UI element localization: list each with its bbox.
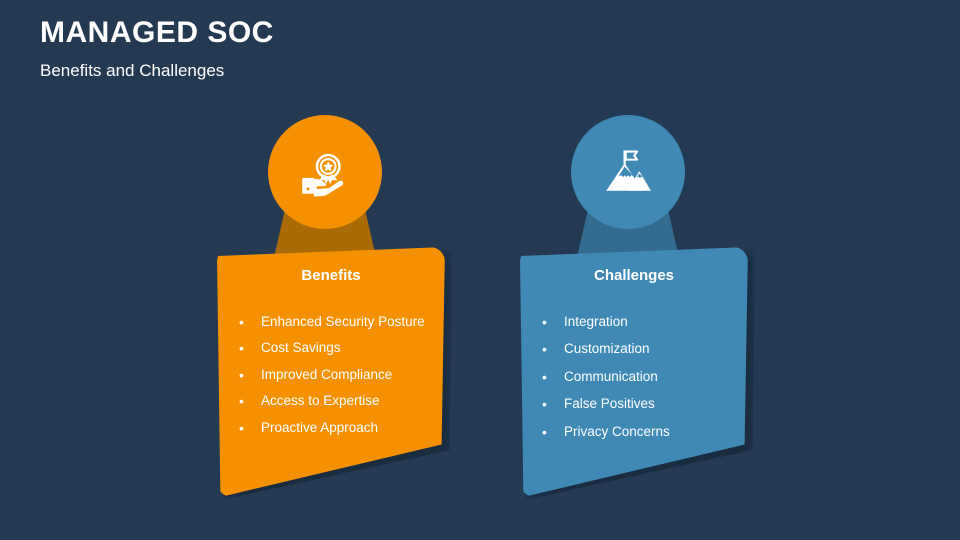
bullet-icon: •: [542, 368, 564, 386]
list-item-label: Communication: [564, 368, 734, 386]
list-item: • Privacy Concerns: [542, 423, 734, 441]
slide-canvas: MANAGED SOC Benefits and Challenges: [0, 0, 960, 540]
bullet-icon: •: [542, 313, 564, 331]
list-item: • Communication: [542, 368, 734, 386]
list-item-label: Enhanced Security Posture: [261, 313, 431, 331]
list-item-label: Integration: [564, 313, 734, 331]
bullet-icon: •: [542, 423, 564, 441]
list-item: • Access to Expertise: [239, 392, 431, 410]
list-item-label: Cost Savings: [261, 339, 431, 357]
icon-circle-benefits: [268, 115, 382, 229]
bullet-icon: •: [239, 392, 261, 410]
card-benefits[interactable]: Benefits • Enhanced Security Posture • C…: [217, 247, 445, 497]
bullet-icon: •: [542, 395, 564, 413]
icon-circle-challenges: [571, 115, 685, 229]
bullet-icon: •: [239, 419, 261, 437]
benefits-list: • Enhanced Security Posture • Cost Savin…: [239, 313, 431, 445]
list-item-label: False Positives: [564, 395, 734, 413]
bullet-icon: •: [239, 366, 261, 384]
list-item: • Customization: [542, 340, 734, 358]
bullet-icon: •: [542, 340, 564, 358]
panel-benefits: Benefits • Enhanced Security Posture • C…: [160, 0, 490, 540]
bullet-icon: •: [239, 313, 261, 331]
list-item: • Proactive Approach: [239, 419, 431, 437]
list-item: • False Positives: [542, 395, 734, 413]
list-item: • Cost Savings: [239, 339, 431, 357]
mountain-flag-icon: [598, 142, 658, 202]
list-item-label: Privacy Concerns: [564, 423, 734, 441]
list-item-label: Improved Compliance: [261, 366, 431, 384]
card-title-challenges: Challenges: [520, 267, 748, 284]
list-item-label: Proactive Approach: [261, 419, 431, 437]
list-item: • Enhanced Security Posture: [239, 313, 431, 331]
list-item: • Improved Compliance: [239, 366, 431, 384]
list-item-label: Customization: [564, 340, 734, 358]
bullet-icon: •: [239, 339, 261, 357]
panel-challenges: Challenges • Integration • Customization…: [463, 0, 793, 540]
hand-holding-award-icon: [294, 141, 356, 203]
challenges-list: • Integration • Customization • Communic…: [542, 313, 734, 450]
list-item-label: Access to Expertise: [261, 392, 431, 410]
card-title-benefits: Benefits: [217, 267, 445, 284]
card-challenges[interactable]: Challenges • Integration • Customization…: [520, 247, 748, 497]
list-item: • Integration: [542, 313, 734, 331]
